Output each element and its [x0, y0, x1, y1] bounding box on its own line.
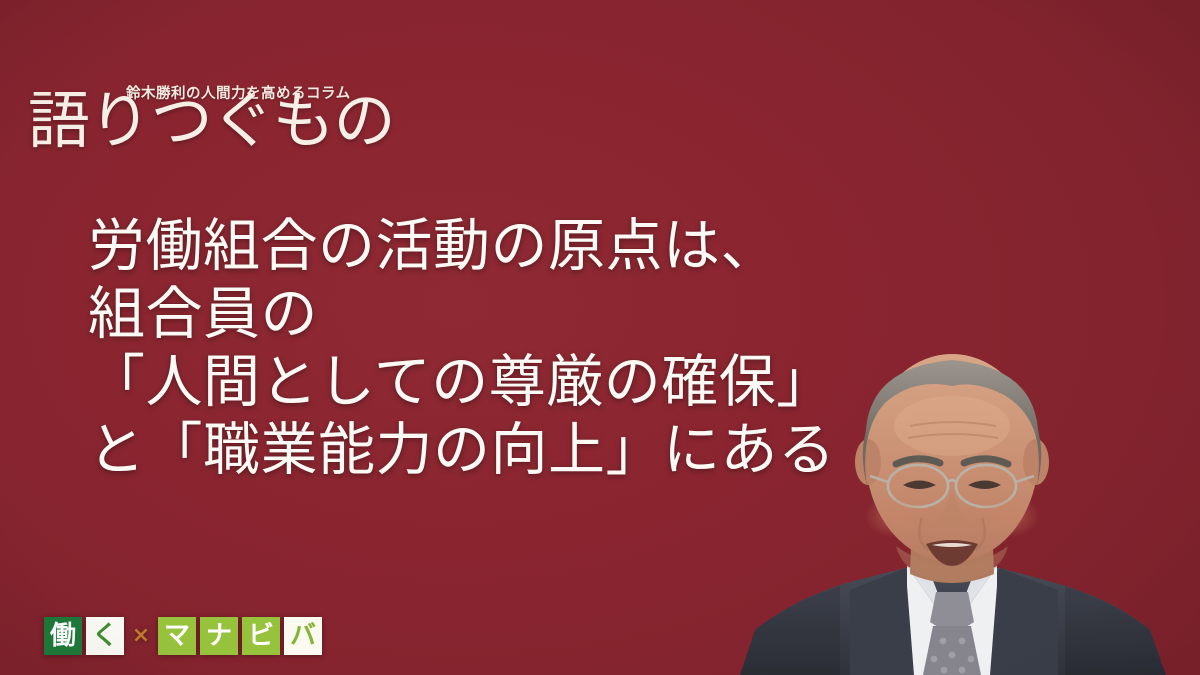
- brand-title: 語りつぐもの: [28, 90, 395, 152]
- logo-separator-x: ×: [128, 625, 154, 647]
- logo-tile-bi: ビ: [242, 617, 280, 655]
- quote-line-1: 労働組合の活動の原点は、: [88, 212, 888, 280]
- slide-canvas: 鈴木勝利の人間力を高めるコラム 語りつぐもの 労働組合の活動の原点は、 組合員の…: [0, 0, 1200, 675]
- logo-tile-ba: バ: [284, 617, 322, 655]
- logo-tile-ma: マ: [158, 617, 196, 655]
- hatarakuku-manabiba-logo[interactable]: 働 く × マ ナ ビ バ: [44, 617, 322, 655]
- logo-tile-hataraku: 働: [44, 617, 82, 655]
- speaker-portrait: [700, 330, 1200, 675]
- column-brand-logo: 鈴木勝利の人間力を高めるコラム 語りつぐもの: [28, 62, 348, 172]
- logo-tile-ku: く: [86, 617, 124, 655]
- logo-tile-na: ナ: [200, 617, 238, 655]
- head: [855, 354, 1049, 582]
